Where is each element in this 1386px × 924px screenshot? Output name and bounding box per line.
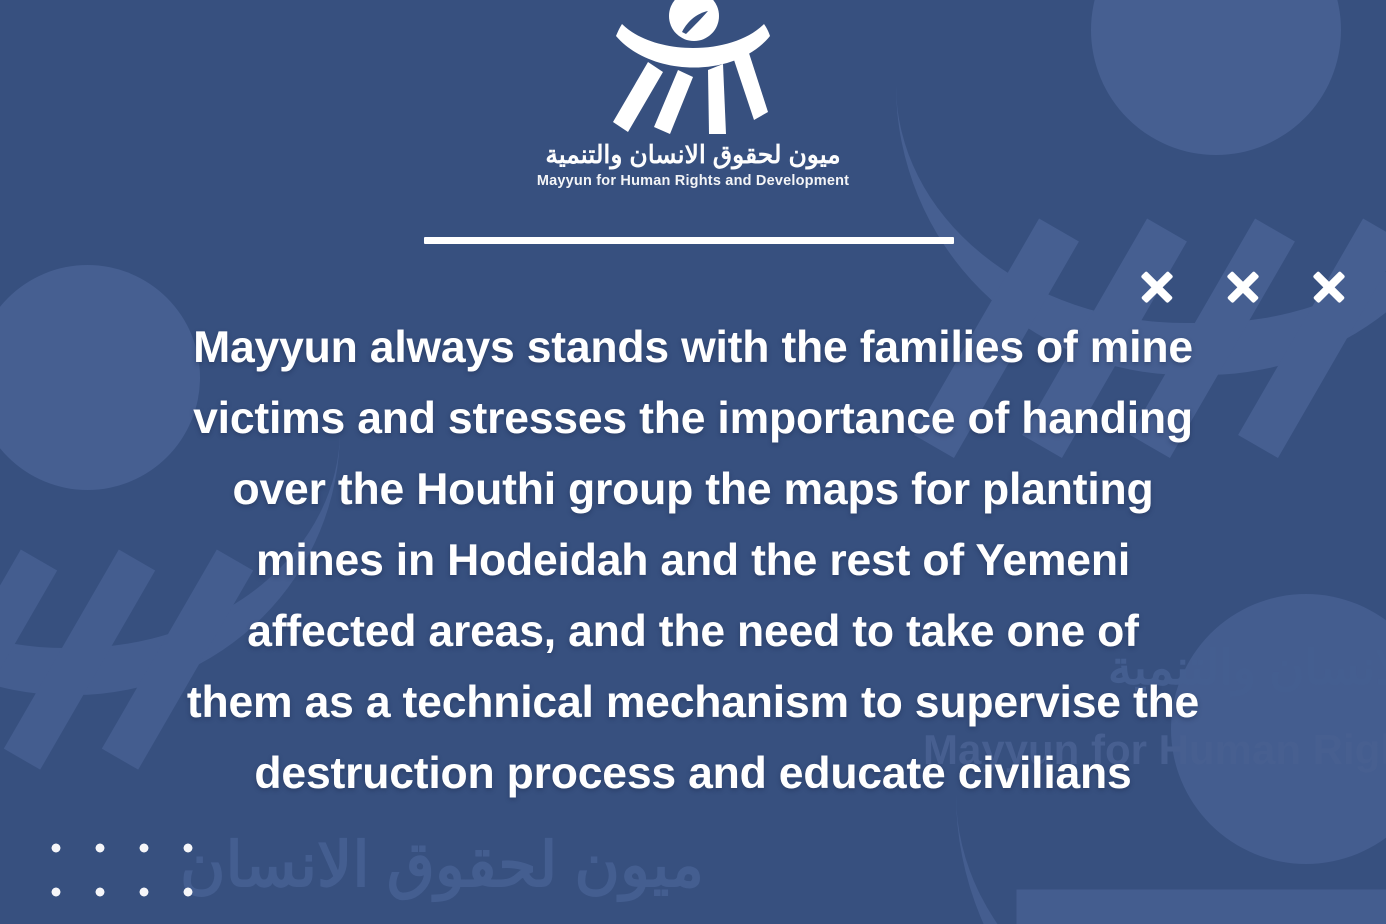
header-divider <box>424 237 954 244</box>
mayyun-logo-icon <box>608 0 778 136</box>
poster-content: ميون لحقوق الانسان والتنمية Mayyun for H… <box>0 0 1386 924</box>
close-icon <box>1312 270 1346 304</box>
brand-name-english: Mayyun for Human Rights and Development <box>537 173 849 189</box>
close-icon <box>1140 270 1174 304</box>
statement-text: Mayyun always stands with the families o… <box>8 312 1378 809</box>
brand-name-arabic: ميون لحقوق الانسان والتنمية <box>545 140 840 170</box>
poster-canvas: الانسان والتنمية Mayyun for Human Righ م… <box>0 0 1386 924</box>
x-marks-row <box>1140 270 1346 304</box>
brand-block: ميون لحقوق الانسان والتنمية Mayyun for H… <box>0 0 1386 189</box>
close-icon <box>1226 270 1260 304</box>
